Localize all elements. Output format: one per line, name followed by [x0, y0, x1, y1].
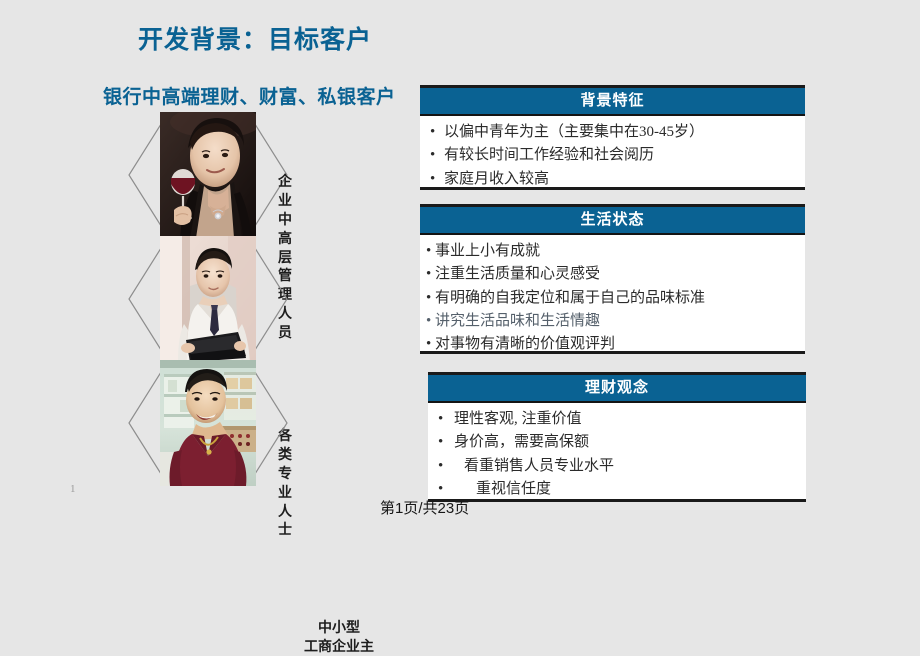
photo-businesswoman-with-wine-glass [160, 112, 256, 238]
bullet-icon: • [438, 408, 454, 431]
segment-hexagon-stack: 企业中高层 管理人员 [128, 112, 288, 484]
list-item: •注重生活质量和心灵感受 [426, 263, 795, 286]
page-subtitle: 银行中高端理财、财富、私银客户 [103, 82, 396, 109]
panel-background-title: 背景特征 [420, 88, 805, 116]
slide-canvas: 开发背景：目标客户 银行中高端理财、财富、私银客户 [0, 0, 920, 518]
panel-life-status-body: •事业上小有成就 •注重生活质量和心灵感受 •有明确的自我定位和属于自己的品味标… [420, 235, 805, 361]
list-item: •事业上小有成就 [426, 240, 795, 263]
bullet-icon: • [426, 333, 435, 356]
segment-row-1[interactable]: 企业中高层 管理人员 [128, 112, 288, 238]
panel-finance-concept: 理财观念 •理性客观, 注重价值 •身价高，需要高保额 •看重销售人员专业水平 … [428, 372, 806, 502]
segment-row-3[interactable]: 中小型 工商企业主 [128, 360, 288, 486]
photo-young-professional-man-with-laptop [160, 236, 256, 362]
photo-shop-owner-in-red-sweater [160, 360, 256, 486]
list-item: •理性客观, 注重价值 [438, 408, 796, 431]
list-item: •身价高，需要高保额 [438, 431, 796, 454]
list-item: •看重销售人员专业水平 [438, 455, 796, 478]
bullet-icon: • [426, 240, 435, 263]
bullet-icon: • [426, 263, 435, 286]
bullet-icon: • [430, 168, 444, 191]
bullet-icon: • [438, 455, 454, 478]
segment-row-2[interactable]: 各类专业人士 [128, 236, 288, 362]
list-item: •讲究生活品味和生活情趣 [426, 310, 795, 333]
bullet-icon: • [438, 431, 454, 454]
list-item: •以偏中青年为主（主要集中在30-45岁） [430, 121, 795, 144]
list-item: •重视信任度 [438, 478, 796, 501]
panel-finance-concept-body: •理性客观, 注重价值 •身价高，需要高保额 •看重销售人员专业水平 •重视信任… [428, 403, 806, 506]
list-item: •有明确的自我定位和属于自己的品味标准 [426, 287, 795, 310]
panel-background-characteristics: 背景特征 •以偏中青年为主（主要集中在30-45岁） •有较长时间工作经验和社会… [420, 85, 805, 190]
panel-life-status-title: 生活状态 [420, 207, 805, 235]
bullet-icon: • [426, 310, 435, 333]
segment-label-3: 中小型 工商企业主 [274, 618, 404, 656]
panel-life-status: 生活状态 •事业上小有成就 •注重生活质量和心灵感受 •有明确的自我定位和属于自… [420, 204, 805, 354]
bullet-icon: • [426, 287, 435, 310]
bullet-icon: • [430, 144, 444, 167]
list-item: •有较长时间工作经验和社会阅历 [430, 144, 795, 167]
list-item: •对事物有清晰的价值观评判 [426, 333, 795, 356]
list-item: •家庭月收入较高 [430, 168, 795, 191]
page-indicator: 第1页/共23页 [380, 497, 469, 518]
bullet-icon: • [430, 121, 444, 144]
slide-number: 1 [70, 483, 76, 495]
page-title: 开发背景：目标客户 [138, 20, 372, 56]
panel-background-body: •以偏中青年为主（主要集中在30-45岁） •有较长时间工作经验和社会阅历 •家… [420, 116, 805, 196]
panel-finance-concept-title: 理财观念 [428, 375, 806, 403]
